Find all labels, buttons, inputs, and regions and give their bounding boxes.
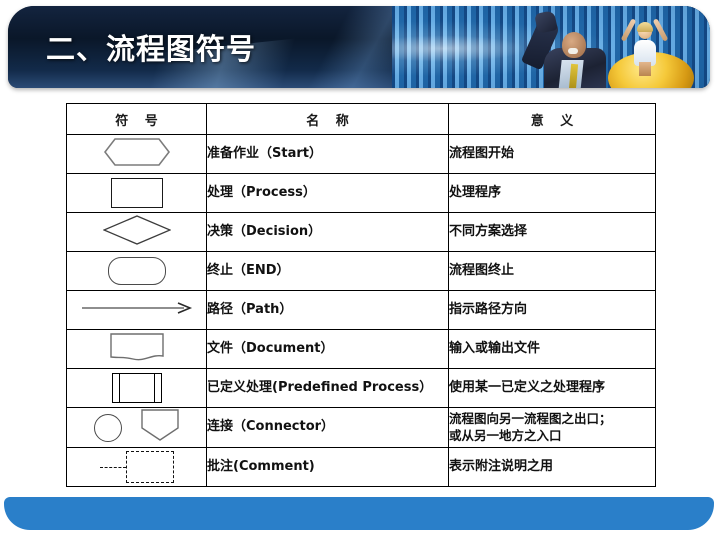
page-title: 二、流程图符号 [46,26,256,68]
pentagon-icon [140,408,180,447]
photo-businesswoman [616,12,674,70]
table-header-row: 符 号 名 称 意 义 [67,104,656,135]
circle-icon [94,414,122,442]
symbol-meaning: 流程图向另一流程图之出口； 或从另一地方之入口 [449,408,656,448]
symbol-name: 终止（END） [207,252,449,291]
meaning-line-2: 或从另一地方之入口 [449,428,655,445]
symbol-meaning: 不同方案选择 [449,213,656,252]
table-row: 终止（END） 流程图终止 [67,252,656,291]
symbol-cell-decision [67,213,207,252]
flowchart-symbol-table: 符 号 名 称 意 义 准备作业（Start） 流程图开始 [66,103,656,487]
column-header-name: 名 称 [207,104,449,135]
businesswoman-hair [637,22,653,32]
symbol-meaning: 表示附注说明之用 [449,448,656,487]
table-row: 准备作业（Start） 流程图开始 [67,135,656,174]
symbol-name: 处理（Process） [207,174,449,213]
symbol-name: 路径（Path） [207,291,449,330]
rectangle-icon [111,178,163,208]
symbol-cell-start [67,135,207,174]
symbol-name: 已定义处理(Predefined Process） [207,369,449,408]
dashed-line-icon [100,467,126,468]
dashed-rectangle-icon [126,451,174,483]
symbol-name: 决策（Decision） [207,213,449,252]
table-row: 已定义处理(Predefined Process） 使用某一已定义之处理程序 [67,369,656,408]
photo-businessman [510,16,630,88]
businesswoman-right-arm [653,18,669,42]
table-row: 决策（Decision） 不同方案选择 [67,213,656,252]
table-row: 文件（Document） 输入或输出文件 [67,330,656,369]
slide-footer-bar [4,497,714,530]
symbol-meaning: 处理程序 [449,174,656,213]
businesswoman-left-arm [621,18,637,42]
banner-photo-image [392,6,710,88]
symbol-name: 文件（Document） [207,330,449,369]
column-header-symbol: 符 号 [67,104,207,135]
diamond-icon [103,215,171,250]
symbol-cell-process [67,174,207,213]
column-header-meaning: 意 义 [449,104,656,135]
businesswoman-legs [639,62,651,76]
table-row: 路径（Path） 指示路径方向 [67,291,656,330]
hexagon-icon [104,138,170,171]
table-row: 连接（Connector） 流程图向另一流程图之出口； 或从另一地方之入口 [67,408,656,448]
symbol-cell-path [67,291,207,330]
symbol-cell-end [67,252,207,291]
arrow-right-icon [80,301,194,320]
symbol-name: 批注(Comment) [207,448,449,487]
businessman-head [562,32,586,58]
table-row: 批注(Comment) 表示附注说明之用 [67,448,656,487]
predefined-process-icon [112,373,162,403]
symbol-meaning: 指示路径方向 [449,291,656,330]
connector-icon-group [94,408,180,447]
symbol-meaning: 输入或输出文件 [449,330,656,369]
symbol-cell-comment [67,448,207,487]
rounded-rectangle-icon [108,257,166,285]
symbol-cell-document [67,330,207,369]
symbol-name: 准备作业（Start） [207,135,449,174]
table-row: 处理（Process） 处理程序 [67,174,656,213]
symbol-name: 连接（Connector） [207,408,449,448]
symbol-meaning: 使用某一已定义之处理程序 [449,369,656,408]
symbol-cell-predefined-process [67,369,207,408]
meaning-line-1: 流程图向另一流程图之出口； [449,411,655,428]
slide-title-banner: 二、流程图符号 [8,6,710,88]
symbol-meaning: 流程图开始 [449,135,656,174]
document-icon [109,332,165,367]
symbol-cell-connector [67,408,207,448]
comment-icon-group [100,451,174,483]
symbol-meaning: 流程图终止 [449,252,656,291]
businessman-mouth [568,48,578,54]
